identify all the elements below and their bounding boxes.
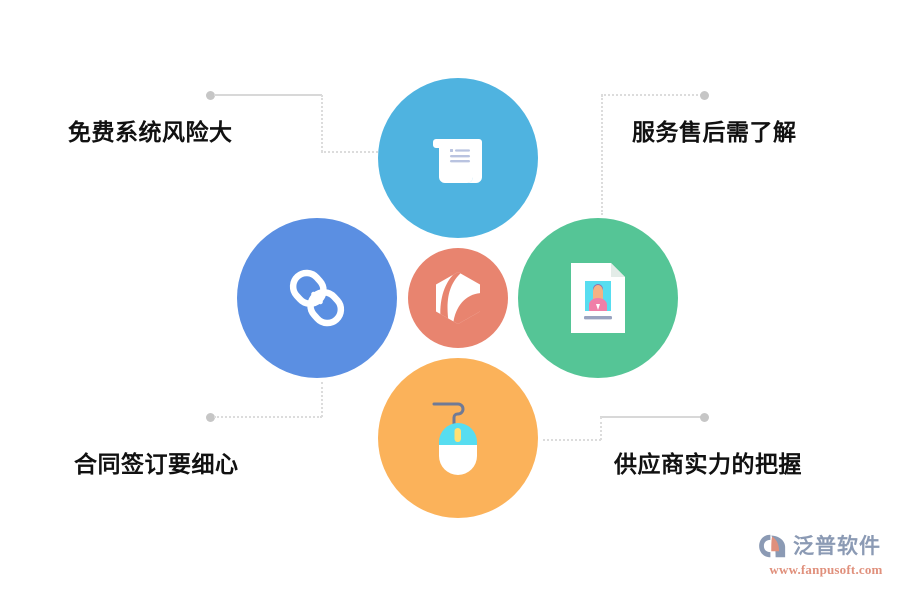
label-bottom-right: 供应商实力的把握: [614, 445, 802, 479]
connector-dot-bottom-right: [700, 413, 709, 422]
connector-bottom-right-tail: [543, 439, 601, 441]
connector-top-left-horizontal: [214, 94, 322, 96]
node-circle-chain-link[interactable]: [237, 218, 397, 378]
scroll-document-icon: [422, 122, 494, 194]
watermark-name: 泛普软件: [793, 536, 881, 557]
fanpu-logo-icon: [758, 533, 788, 559]
connector-dot-top-right: [700, 91, 709, 100]
watermark: 泛普软件 www.fanpusoft.com: [758, 533, 894, 591]
label-bottom-left: 合同签订要细心: [74, 445, 239, 479]
connector-bottom-left-horizontal: [214, 416, 322, 418]
connector-bottom-left-vertical: [321, 382, 323, 417]
infographic-canvas: 免费系统风险大 服务售后需了解 合同签订要细心 供应商实力的把握 泛普软件 ww…: [0, 0, 900, 600]
connector-top-right-vertical: [601, 95, 603, 215]
watermark-brand-row: 泛普软件: [758, 533, 894, 559]
hexagon-leaf-logo-icon: [433, 271, 483, 325]
connector-top-left-tail: [321, 151, 378, 153]
connector-top-right-horizontal: [601, 94, 705, 96]
node-circle-id-card[interactable]: [518, 218, 678, 378]
connector-bottom-right-vertical: [600, 417, 602, 440]
watermark-url: www.fanpusoft.com: [758, 562, 894, 578]
node-circle-contract[interactable]: [378, 78, 538, 238]
connector-bottom-right-horizontal: [600, 416, 705, 418]
node-circle-mouse[interactable]: [378, 358, 538, 518]
computer-mouse-icon: [417, 395, 499, 481]
chain-link-icon: [278, 259, 356, 337]
connector-top-left-vertical: [321, 95, 323, 152]
id-card-icon: [567, 261, 629, 335]
node-circle-brand-logo[interactable]: [408, 248, 508, 348]
label-top-right: 服务售后需了解: [632, 113, 797, 147]
label-top-left: 免费系统风险大: [68, 113, 233, 147]
